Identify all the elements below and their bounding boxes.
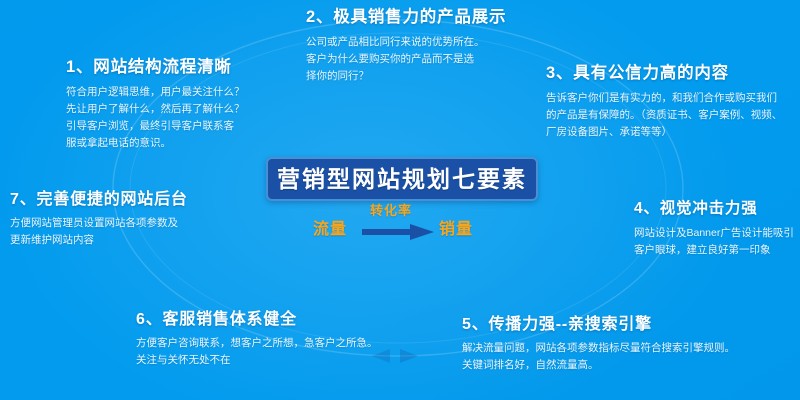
item-2-body: 公司或产品相比同行来说的优势所在。 客户为什么要购买你的产品而不是选 择你的同行… — [306, 34, 506, 85]
item-4-body: 网站设计及Banner广告设计能吸引 客户眼球，建立良好第一印象 — [634, 225, 794, 259]
item-3-heading: 3、具有公信力高的内容 — [546, 64, 782, 84]
item-2-line-2: 客户为什么要购买你的产品而不是选 — [306, 51, 506, 68]
flow-conversion-label: 转化率 — [370, 204, 412, 217]
item-6-body: 方便客户咨询联系，想客户之所想，急客户之所急。 关注与关怀无处不在 — [136, 335, 378, 369]
item-7-body: 方便网站管理员设置网站各项参数及 更新维护网站内容 — [10, 215, 188, 249]
item-5-heading: 5、传播力强--亲搜索引擎 — [462, 315, 735, 334]
item-4-visual-impact: 4、视觉冲击力强 网站设计及Banner广告设计能吸引 客户眼球，建立良好第一印… — [634, 200, 794, 259]
item-1-line-2: 先让用户了解什么，然后再了解什么？ — [66, 101, 245, 118]
item-7-line-1: 方便网站管理员设置网站各项参数及 — [10, 215, 188, 232]
item-5-search-engine-friendly: 5、传播力强--亲搜索引擎 解决流量问题，网站各项参数指标尽量符合搜索引擎规则。… — [462, 315, 735, 374]
item-1-line-3: 引导客户浏览，最终引导客户联系客 — [66, 118, 245, 135]
item-2-line-1: 公司或产品相比同行来说的优势所在。 — [306, 34, 506, 51]
page-title-box: 营销型网站规划七要素 — [266, 157, 538, 201]
item-2-line-3: 择你的同行？ — [306, 68, 506, 85]
item-3-line-1: 告诉客户你们是有实力的，和我们合作或购买我们 — [546, 90, 782, 107]
flow-target-label: 销量 — [439, 222, 473, 238]
item-2-product-display: 2、极具销售力的产品展示 公司或产品相比同行来说的优势所在。 客户为什么要购买你… — [306, 8, 506, 85]
item-7-website-backend: 7、完善便捷的网站后台 方便网站管理员设置网站各项参数及 更新维护网站内容 — [10, 190, 188, 249]
item-5-body: 解决流量问题，网站各项参数指标尽量符合搜索引擎规则。 关键词排名好，自然流量高。 — [462, 340, 735, 374]
infographic-canvas: 营销型网站规划七要素 转化率 流量 销量 1、网站结构流程清晰 符合用户逻辑思维… — [0, 0, 800, 400]
item-7-line-2: 更新维护网站内容 — [10, 232, 188, 249]
item-3-body: 告诉客户你们是有实力的，和我们合作或购买我们 的产品是有保障的。（资质证书、客户… — [546, 90, 782, 141]
conversion-flow: 转化率 流量 销量 — [300, 204, 505, 250]
item-3-credible-content: 3、具有公信力高的内容 告诉客户你们是有实力的，和我们合作或购买我们 的产品是有… — [546, 64, 782, 141]
item-6-line-1: 方便客户咨询联系，想客户之所想，急客户之所急。 — [136, 335, 378, 352]
item-7-heading: 7、完善便捷的网站后台 — [10, 190, 188, 209]
right-arrow-icon — [362, 223, 434, 241]
ring-arrowhead-icon — [400, 349, 418, 363]
item-3-line-2: 的产品是有保障的。（资质证书、客户案例、视频、 — [546, 107, 782, 124]
item-2-heading: 2、极具销售力的产品展示 — [306, 8, 506, 28]
flow-source-label: 流量 — [313, 222, 347, 238]
item-1-body: 符合用户逻辑思维，用户最关注什么？ 先让用户了解什么，然后再了解什么？ 引导客户… — [66, 84, 245, 152]
item-6-line-2: 关注与关怀无处不在 — [136, 352, 378, 369]
item-4-line-1: 网站设计及Banner广告设计能吸引 — [634, 225, 794, 242]
item-1-line-4: 服或拿起电话的意识。 — [66, 135, 245, 152]
item-1-line-1: 符合用户逻辑思维，用户最关注什么？ — [66, 84, 245, 101]
item-4-line-2: 客户眼球，建立良好第一印象 — [634, 242, 794, 259]
item-3-line-3: 厂房设备图片、承诺等等） — [546, 124, 782, 141]
item-5-line-2: 关键词排名好，自然流量高。 — [462, 357, 735, 374]
item-6-customer-service-system: 6、客服销售体系健全 方便客户咨询联系，想客户之所想，急客户之所急。 关注与关怀… — [136, 310, 378, 369]
page-title: 营销型网站规划七要素 — [277, 168, 527, 191]
item-6-heading: 6、客服销售体系健全 — [136, 310, 378, 329]
item-1-heading: 1、网站结构流程清晰 — [66, 58, 245, 78]
item-1-website-structure: 1、网站结构流程清晰 符合用户逻辑思维，用户最关注什么？ 先让用户了解什么，然后… — [66, 58, 245, 152]
item-4-heading: 4、视觉冲击力强 — [634, 200, 794, 219]
item-5-line-1: 解决流量问题，网站各项参数指标尽量符合搜索引擎规则。 — [462, 340, 735, 357]
